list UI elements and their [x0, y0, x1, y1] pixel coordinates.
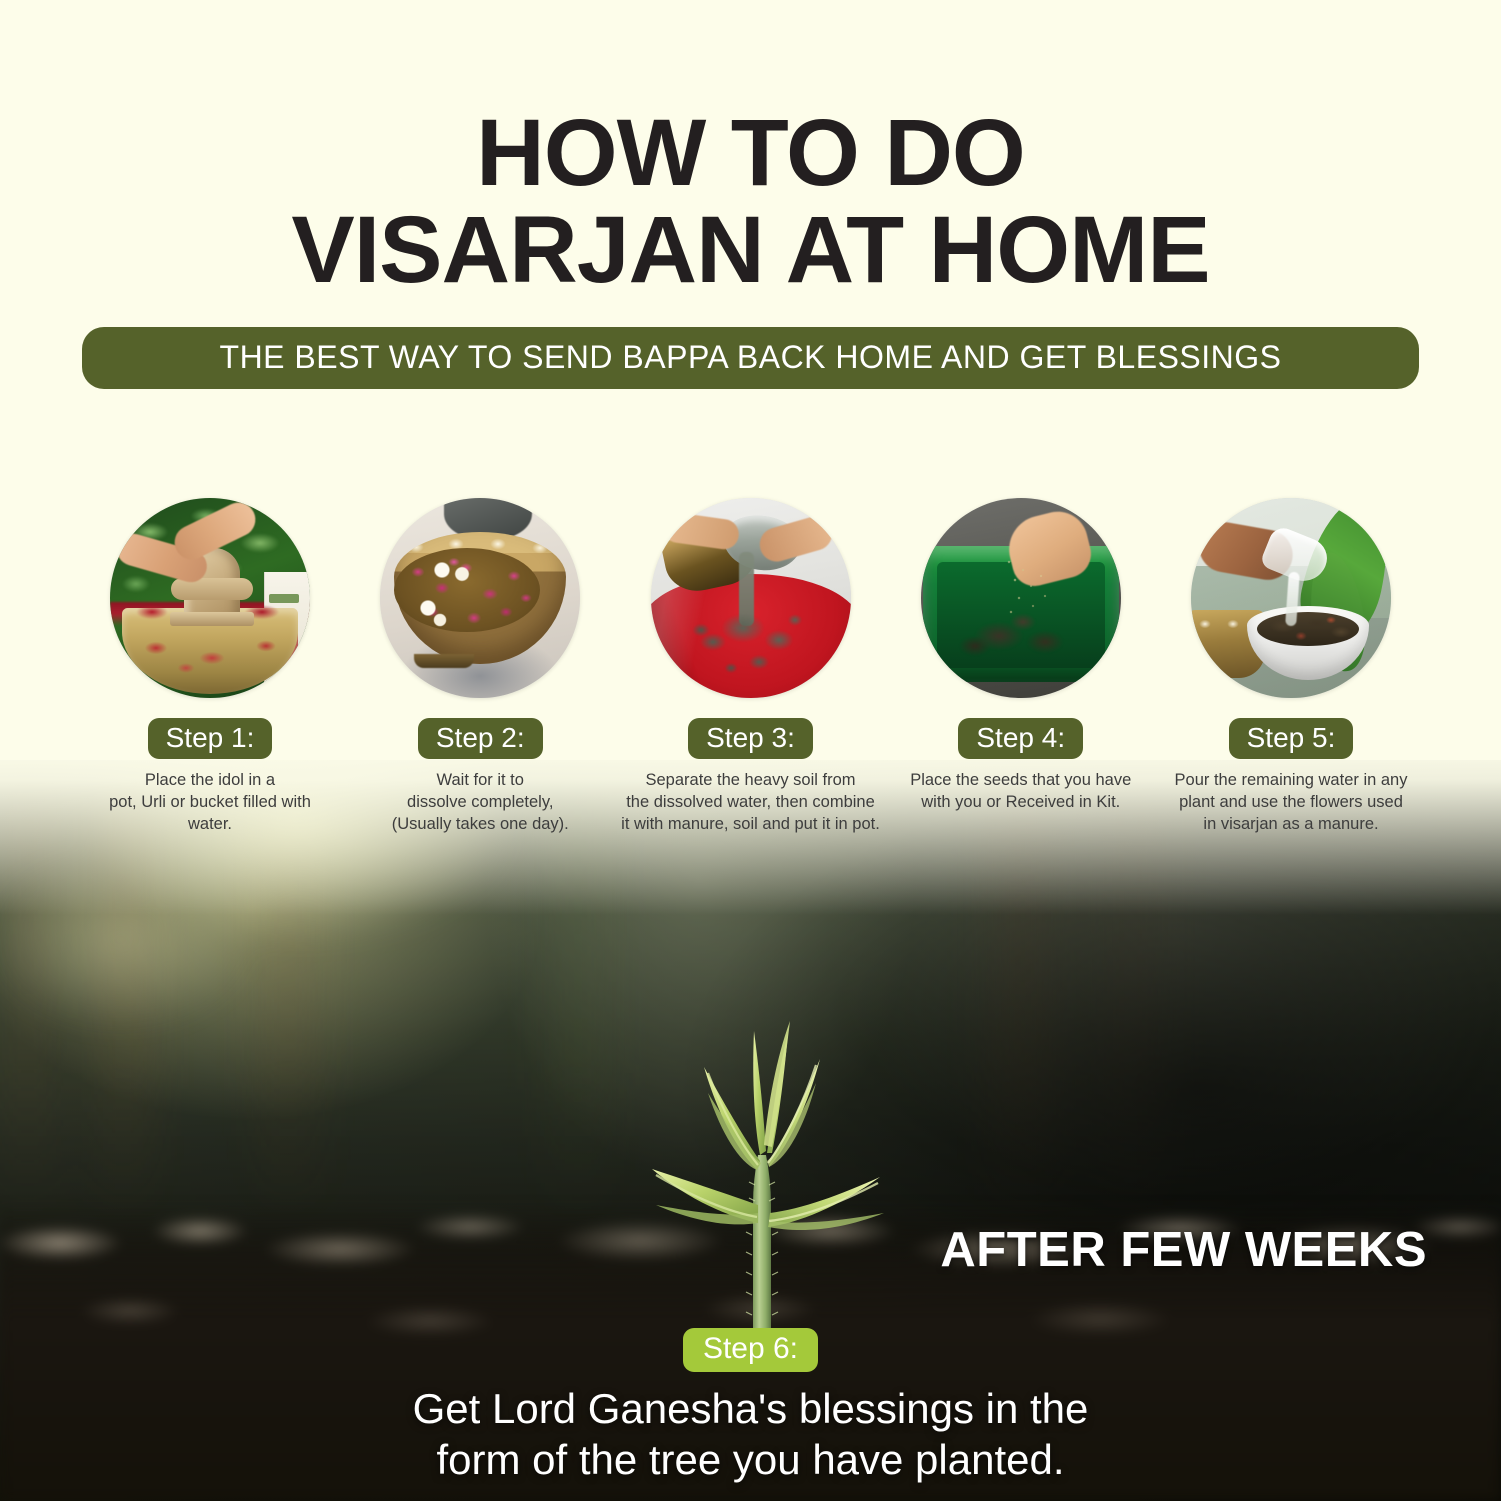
- step-2-caption-line-2: dissolve completely,: [407, 793, 553, 811]
- step-5-caption-line-2: plant and use the flowers used: [1179, 793, 1403, 811]
- step-1-image: [110, 498, 310, 698]
- step-5-caption-line-1: Pour the remaining water in any: [1175, 771, 1408, 789]
- seedling-illustration: [612, 955, 912, 1375]
- header: HOW TO DO VISARJAN AT HOME THE BEST WAY …: [0, 0, 1501, 389]
- step-2-caption: Wait for it to dissolve completely, (Usu…: [355, 770, 605, 836]
- step-5-caption-line-3: in visarjan as a manure.: [1203, 815, 1378, 833]
- subtitle-banner: THE BEST WAY TO SEND BAPPA BACK HOME AND…: [82, 327, 1419, 389]
- step-3-image: [651, 498, 851, 698]
- step-item-4: Step 4: Place the seeds that you have wi…: [907, 498, 1135, 836]
- falling-seeds: [999, 556, 1063, 622]
- step-6-badge: Step 6:: [683, 1328, 818, 1372]
- step-2-caption-line-3: (Usually takes one day).: [392, 815, 569, 833]
- step-item-2: Step 2: Wait for it to dissolve complete…: [366, 498, 594, 836]
- after-few-weeks-label: AFTER FEW WEEKS: [940, 1222, 1427, 1278]
- step-3-caption-line-2: the dissolved water, then combine: [626, 793, 875, 811]
- step-5-caption: Pour the remaining water in any plant an…: [1153, 770, 1429, 836]
- step-4-caption-line-2: with you or Received in Kit.: [921, 793, 1120, 811]
- step-1-caption: Place the idol in a pot, Urli or bucket …: [85, 770, 335, 836]
- pot-soil: [1257, 612, 1359, 646]
- step-item-5: Step 5: Pour the remaining water in any …: [1177, 498, 1405, 836]
- title-line-1: HOW TO DO: [476, 100, 1025, 206]
- page-title: HOW TO DO VISARJAN AT HOME: [0, 0, 1501, 299]
- step-4-caption-line-1: Place the seeds that you have: [910, 771, 1131, 789]
- subtitle-text: THE BEST WAY TO SEND BAPPA BACK HOME AND…: [220, 339, 1282, 376]
- subtitle-banner-wrap: THE BEST WAY TO SEND BAPPA BACK HOME AND…: [0, 327, 1501, 389]
- steps-row: Step 1: Place the idol in a pot, Urli or…: [0, 498, 1501, 836]
- step-5-badge: Step 5:: [1229, 718, 1354, 759]
- step-item-3: Step 3: Separate the heavy soil from the…: [637, 498, 865, 836]
- step-3-caption-line-3: it with manure, soil and put it in pot.: [621, 815, 880, 833]
- step-1-caption-line-1: Place the idol in a: [145, 771, 275, 789]
- step-6-text-line-1: Get Lord Ganesha's blessings in the: [0, 1383, 1501, 1434]
- step-3-badge: Step 3:: [688, 718, 813, 759]
- step-1-badge: Step 1:: [148, 718, 273, 759]
- step-2-badge: Step 2:: [418, 718, 543, 759]
- urli-foot: [414, 654, 474, 668]
- step-1-caption-line-2: pot, Urli or bucket filled with water.: [109, 793, 311, 833]
- step-4-caption: Place the seeds that you have with you o…: [896, 770, 1146, 814]
- step-item-1: Step 1: Place the idol in a pot, Urli or…: [96, 498, 324, 836]
- step-5-image: [1191, 498, 1391, 698]
- title-line-2: VISARJAN AT HOME: [0, 202, 1501, 299]
- step-4-badge: Step 4:: [958, 718, 1083, 759]
- step-6-block: Step 6: Get Lord Ganesha's blessings in …: [0, 1328, 1501, 1486]
- white-flowers: [398, 550, 540, 636]
- step-2-image: [380, 498, 580, 698]
- step-2-caption-line-1: Wait for it to: [437, 771, 524, 789]
- step-4-image: [921, 498, 1121, 698]
- seedling-svg: [612, 955, 912, 1375]
- step-6-text: Get Lord Ganesha's blessings in the form…: [0, 1383, 1501, 1485]
- step-3-caption: Separate the heavy soil from the dissolv…: [617, 770, 885, 836]
- step-3-caption-line-1: Separate the heavy soil from: [645, 771, 855, 789]
- infographic-canvas: HOW TO DO VISARJAN AT HOME THE BEST WAY …: [0, 0, 1501, 1501]
- clay-sediment: [687, 602, 811, 678]
- step-6-text-line-2: form of the tree you have planted.: [0, 1434, 1501, 1485]
